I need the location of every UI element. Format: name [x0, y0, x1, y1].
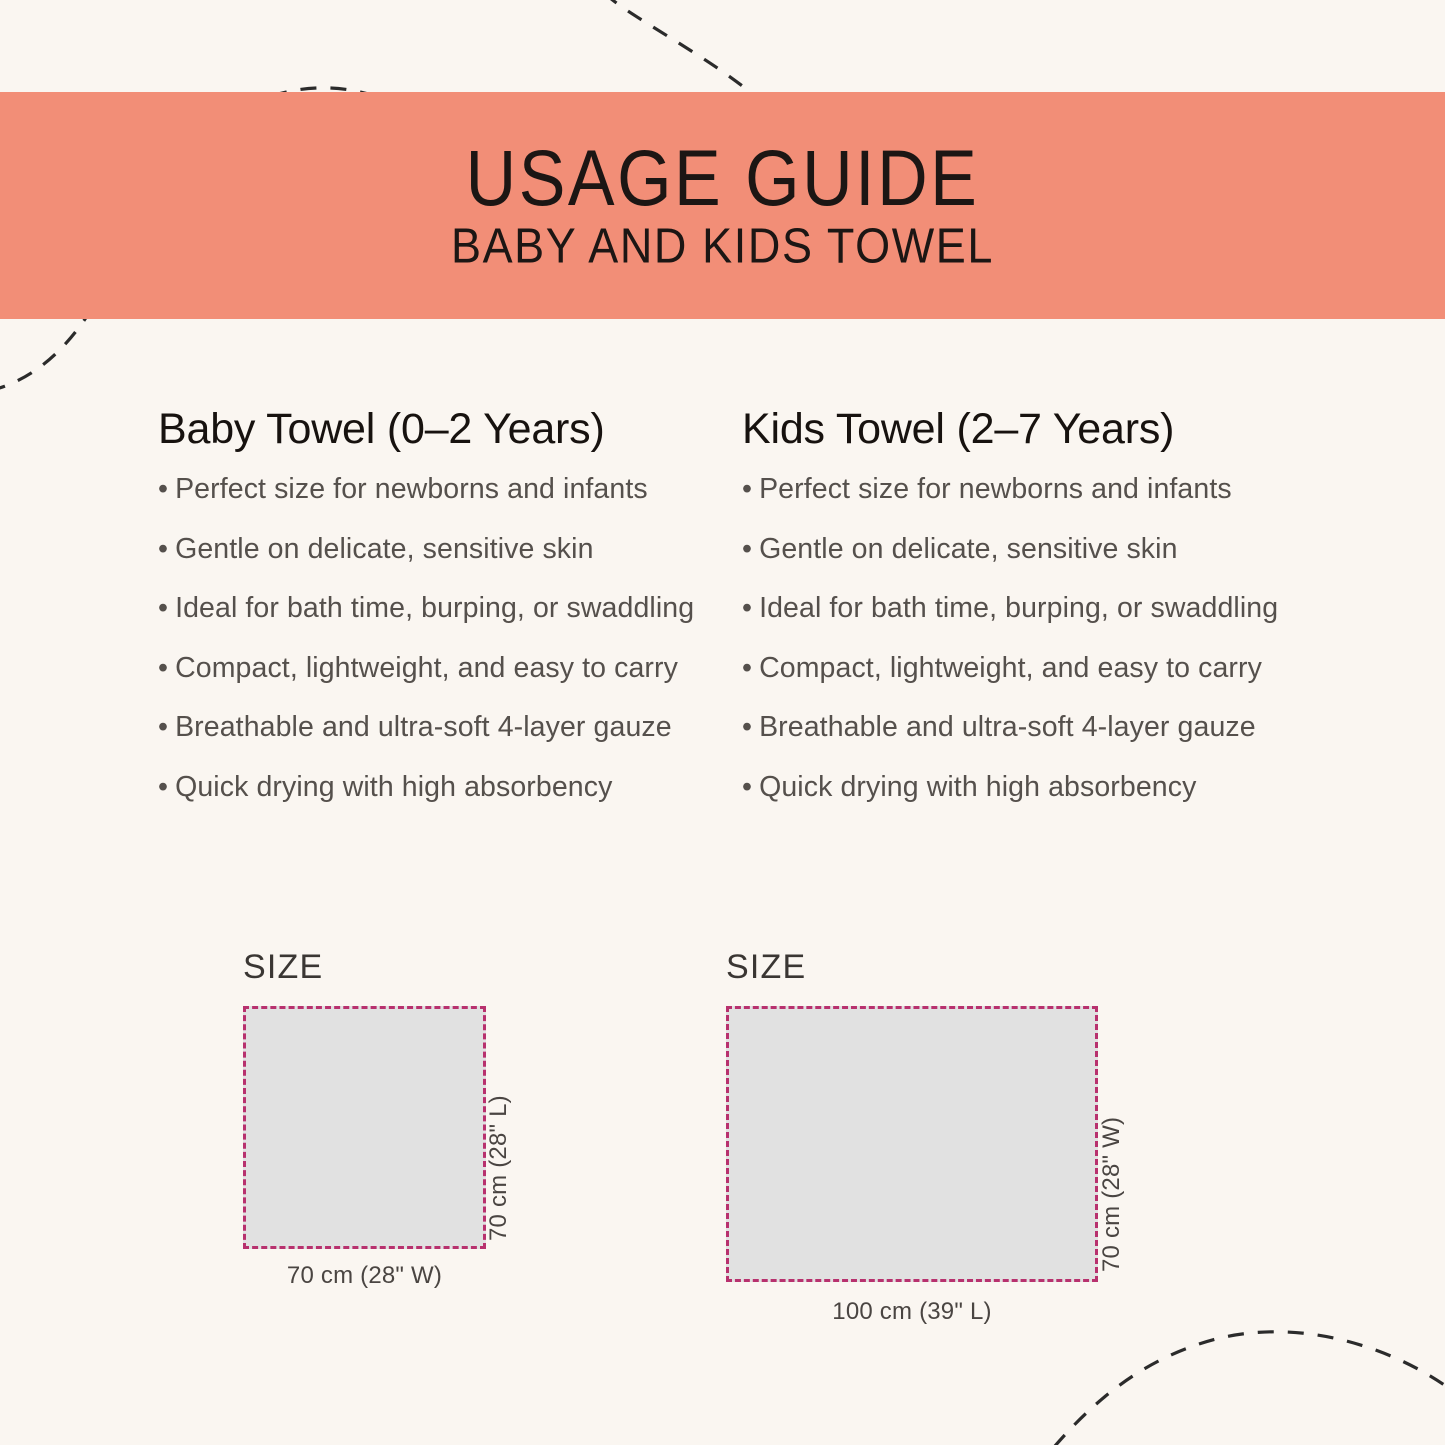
list-item: •Gentle on delicate, sensitive skin — [742, 535, 1285, 564]
page-title: USAGE GUIDE — [466, 139, 980, 217]
header-band: USAGE GUIDE BABY AND KIDS TOWEL — [0, 92, 1445, 319]
kids-towel-bullet-list: •Perfect size for newborns and infants •… — [742, 475, 1285, 801]
kids-size-label: SIZE — [726, 950, 1098, 984]
feature-columns: Baby Towel (0–2 Years) •Perfect size for… — [0, 405, 1445, 832]
baby-width-dimension-label: 70 cm (28" W) — [243, 1264, 486, 1288]
kids-towel-size-box — [726, 1006, 1098, 1282]
list-item: •Breathable and ultra-soft 4-layer gauze — [742, 713, 1285, 742]
list-item: •Ideal for bath time, burping, or swaddl… — [158, 594, 585, 623]
kids-box-wrapper: 70 cm (28" W) — [726, 1006, 1098, 1282]
list-item: •Quick drying with high absorbency — [158, 773, 585, 802]
list-item-label: Gentle on delicate, sensitive skin — [759, 533, 1177, 565]
baby-towel-heading: Baby Towel (0–2 Years) — [158, 405, 585, 453]
kids-length-dimension-label: 70 cm (28" W) — [1100, 1117, 1124, 1272]
bullet-dot-icon: • — [158, 475, 168, 504]
baby-towel-size-box — [243, 1006, 486, 1249]
list-item-label: Breathable and ultra-soft 4-layer gauze — [759, 711, 1256, 743]
usage-guide-page: USAGE GUIDE BABY AND KIDS TOWEL Baby Tow… — [0, 0, 1445, 1445]
baby-towel-column: Baby Towel (0–2 Years) •Perfect size for… — [0, 405, 585, 832]
bullet-dot-icon: • — [158, 535, 168, 564]
baby-towel-bullet-list: •Perfect size for newborns and infants •… — [158, 475, 585, 801]
page-subtitle: BABY AND KIDS TOWEL — [451, 221, 994, 271]
list-item: •Compact, lightweight, and easy to carry — [158, 654, 585, 683]
bullet-dot-icon: • — [742, 535, 752, 564]
baby-size-diagram: SIZE 70 cm (28" L) 70 cm (28" W) — [243, 950, 486, 1288]
baby-size-label: SIZE — [243, 950, 486, 984]
list-item-label: Perfect size for newborns and infants — [759, 473, 1232, 505]
list-item-label: Ideal for bath time, burping, or swaddli… — [759, 592, 1278, 624]
list-item-label: Quick drying with high absorbency — [175, 771, 612, 803]
kids-towel-column: Kids Towel (2–7 Years) •Perfect size for… — [585, 405, 1285, 832]
list-item: •Quick drying with high absorbency — [742, 773, 1285, 802]
kids-towel-heading: Kids Towel (2–7 Years) — [742, 405, 1285, 453]
kids-width-dimension-label: 100 cm (39" L) — [726, 1300, 1098, 1324]
bullet-dot-icon: • — [158, 773, 168, 802]
bullet-dot-icon: • — [158, 594, 168, 623]
list-item-label: Gentle on delicate, sensitive skin — [175, 533, 593, 565]
list-item: •Perfect size for newborns and infants — [742, 475, 1285, 504]
baby-box-wrapper: 70 cm (28" L) — [243, 1006, 486, 1249]
kids-size-diagram: SIZE 70 cm (28" W) 100 cm (39" L) — [726, 950, 1098, 1324]
list-item: •Gentle on delicate, sensitive skin — [158, 535, 585, 564]
baby-length-dimension-label: 70 cm (28" L) — [487, 1095, 511, 1241]
bullet-dot-icon: • — [742, 773, 752, 802]
header-content: USAGE GUIDE BABY AND KIDS TOWEL — [0, 92, 1445, 319]
dashed-curve-bottom-right — [1035, 1332, 1445, 1445]
list-item: •Perfect size for newborns and infants — [158, 475, 585, 504]
bullet-dot-icon: • — [742, 594, 752, 623]
list-item: •Compact, lightweight, and easy to carry — [742, 654, 1285, 683]
bullet-dot-icon: • — [742, 654, 752, 683]
list-item: •Breathable and ultra-soft 4-layer gauze — [158, 713, 585, 742]
bullet-dot-icon: • — [158, 713, 168, 742]
bullet-dot-icon: • — [742, 475, 752, 504]
list-item-label: Perfect size for newborns and infants — [175, 473, 648, 505]
list-item-label: Quick drying with high absorbency — [759, 771, 1196, 803]
list-item: •Ideal for bath time, burping, or swaddl… — [742, 594, 1285, 623]
list-item-label: Compact, lightweight, and easy to carry — [759, 652, 1262, 684]
bullet-dot-icon: • — [742, 713, 752, 742]
bullet-dot-icon: • — [158, 654, 168, 683]
